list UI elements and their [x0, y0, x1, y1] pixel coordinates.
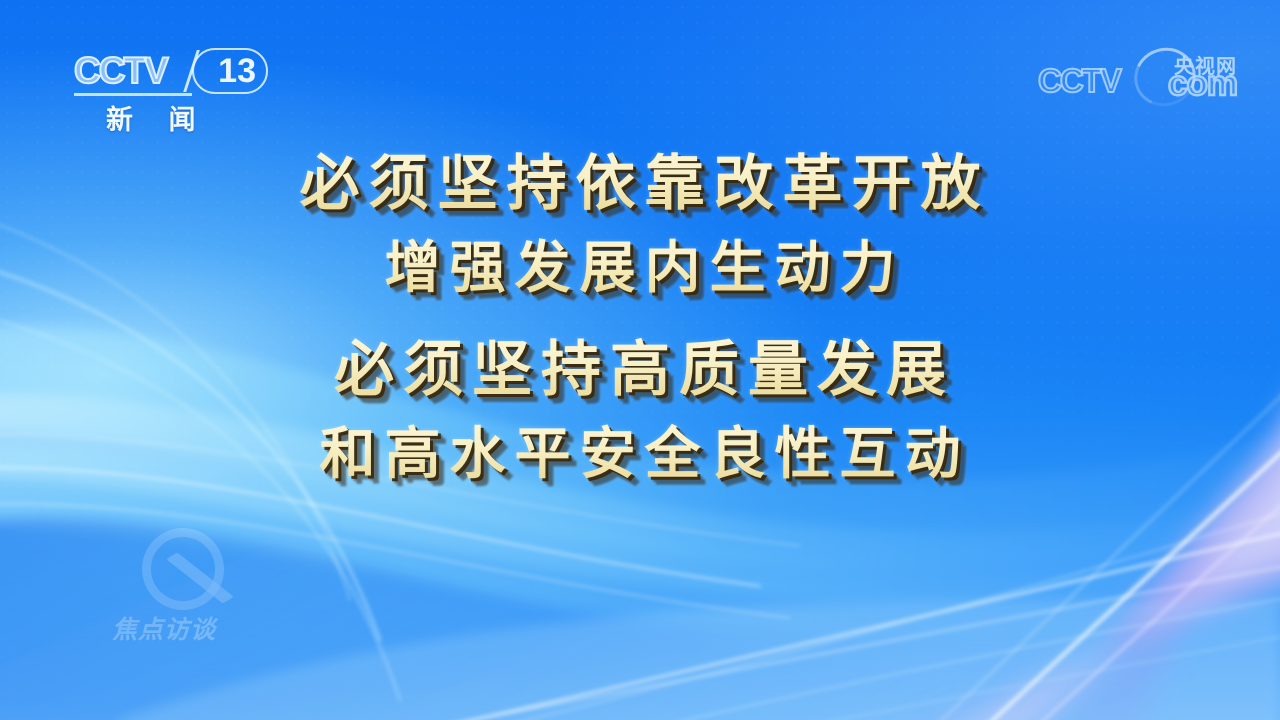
program-name: 焦点访谈 [112, 610, 216, 646]
broadcast-graphic-screen: CCTV 13 新 闻 CCTV 央视网 com 焦点访谈 必须坚持依靠改革开放… [0, 0, 1280, 720]
channel-subtitle: 新 闻 [106, 98, 210, 137]
cctv-com-domain: com [1168, 66, 1237, 102]
cctv-wordmark: CCTV [74, 49, 167, 93]
slide-text-block-2: 必须坚持高质量发展 和高水平安全良性互动 [0, 328, 1280, 496]
channel-logo-badge: CCTV 13 [72, 48, 268, 94]
cctv-com-watermark: CCTV 央视网 com [1038, 52, 1238, 104]
slide-line: 和高水平安全良性互动 [0, 412, 1280, 496]
channel-number: 13 [218, 49, 256, 94]
program-watermark: 焦点访谈 [112, 528, 292, 646]
slide-line: 增强发展内生动力 [0, 226, 1280, 310]
slide-text-block-1: 必须坚持依靠改革开放 增强发展内生动力 [0, 142, 1280, 310]
slide-line: 必须坚持高质量发展 [0, 328, 1280, 412]
channel-logo-underline [74, 93, 192, 96]
cctv13-channel-logo: CCTV 13 新 闻 [72, 48, 268, 140]
cctv-com-wordmark: CCTV [1038, 64, 1120, 98]
slide-line: 必须坚持依靠改革开放 [0, 142, 1280, 226]
